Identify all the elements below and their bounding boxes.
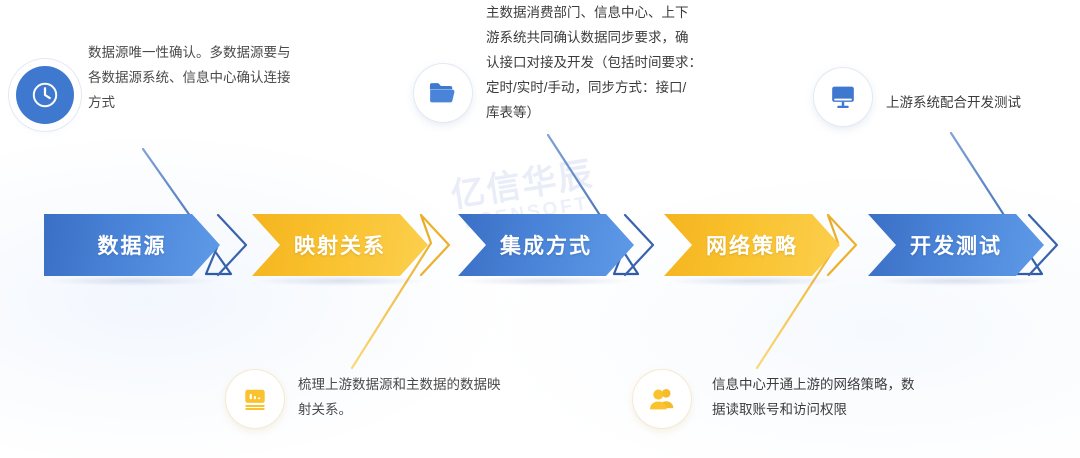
flow-step-network[interactable]: 网络策略 (664, 214, 840, 276)
annotation-text: 信息中心开通上游的网络策略，数 据读取账号和访问权限 (712, 372, 1012, 422)
step-shadow (872, 276, 1042, 286)
flow-step-devtest[interactable]: 开发测试 (868, 214, 1044, 276)
chart-monitor-icon (226, 370, 284, 428)
flow-step-label: 集成方式 (500, 230, 592, 260)
flow-step-label: 网络策略 (706, 230, 798, 260)
folder-icon (414, 64, 472, 122)
step-shadow (462, 276, 632, 286)
step-shadow (668, 276, 838, 286)
flow-step-label: 映射关系 (294, 230, 386, 260)
users-icon (633, 370, 691, 428)
step-shadow (48, 276, 218, 286)
flow-step-datasource[interactable]: 数据源 (44, 214, 220, 276)
flow-step-integration[interactable]: 集成方式 (458, 214, 634, 276)
clock-icon (16, 66, 74, 124)
infographic-canvas: 亿信华辰 ESENSOFT (0, 0, 1080, 458)
annotation-text: 数据源唯一性确认。多数据源要与 各数据源系统、信息中心确认连接 方式 (88, 40, 338, 115)
flow-step-mapping[interactable]: 映射关系 (252, 214, 428, 276)
step-shadow (256, 276, 426, 286)
flow-step-label: 数据源 (98, 230, 167, 260)
annotation-text: 上游系统配合开发测试 (886, 90, 1080, 115)
monitor-icon (814, 68, 872, 126)
flow-step-label: 开发测试 (910, 230, 1002, 260)
annotation-text: 梳理上游数据源和主数据的数据映 射关系。 (298, 372, 554, 422)
annotation-text: 主数据消费部门、信息中心、上下 游系统共同确认数据同步要求，确 认接口对接及开发… (486, 0, 748, 125)
